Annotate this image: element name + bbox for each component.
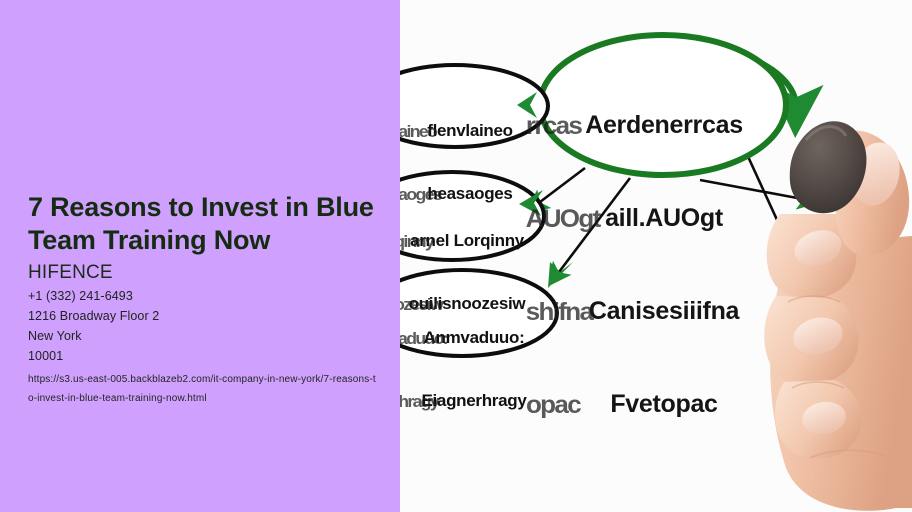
source-url-link[interactable]: https://s3.us-east-005.backblazeb2.com/i… <box>28 370 376 408</box>
node-3-label: Anmvaduuo: Eiagnerhragy <box>396 285 552 453</box>
contact-city: New York <box>28 329 82 343</box>
contact-zip: 10001 <box>28 349 63 363</box>
node-1-line-1: flenvlaineo <box>396 120 544 141</box>
page-root: Aerdenerrcas aill.AUOgt Canisesiiifna Fv… <box>0 0 912 512</box>
page-title: 7 Reasons to Invest in Blue Team Trainin… <box>28 191 390 257</box>
brand-name: HIFENCE <box>28 262 113 284</box>
hand-holding-marker <box>736 96 912 512</box>
hand-illustration <box>736 96 912 512</box>
node-2-line-1: arnel Lorqinny <box>392 230 542 251</box>
info-panel: 7 Reasons to Invest in Blue Team Trainin… <box>0 0 400 512</box>
node-3-line-2: Eiagnerhragy <box>396 390 552 411</box>
contact-street: 1216 Broadway Floor 2 <box>28 309 159 323</box>
node-3-line-1: Anmvaduuo: <box>396 327 552 348</box>
contact-phone: +1 (332) 241-6493 <box>28 289 133 303</box>
